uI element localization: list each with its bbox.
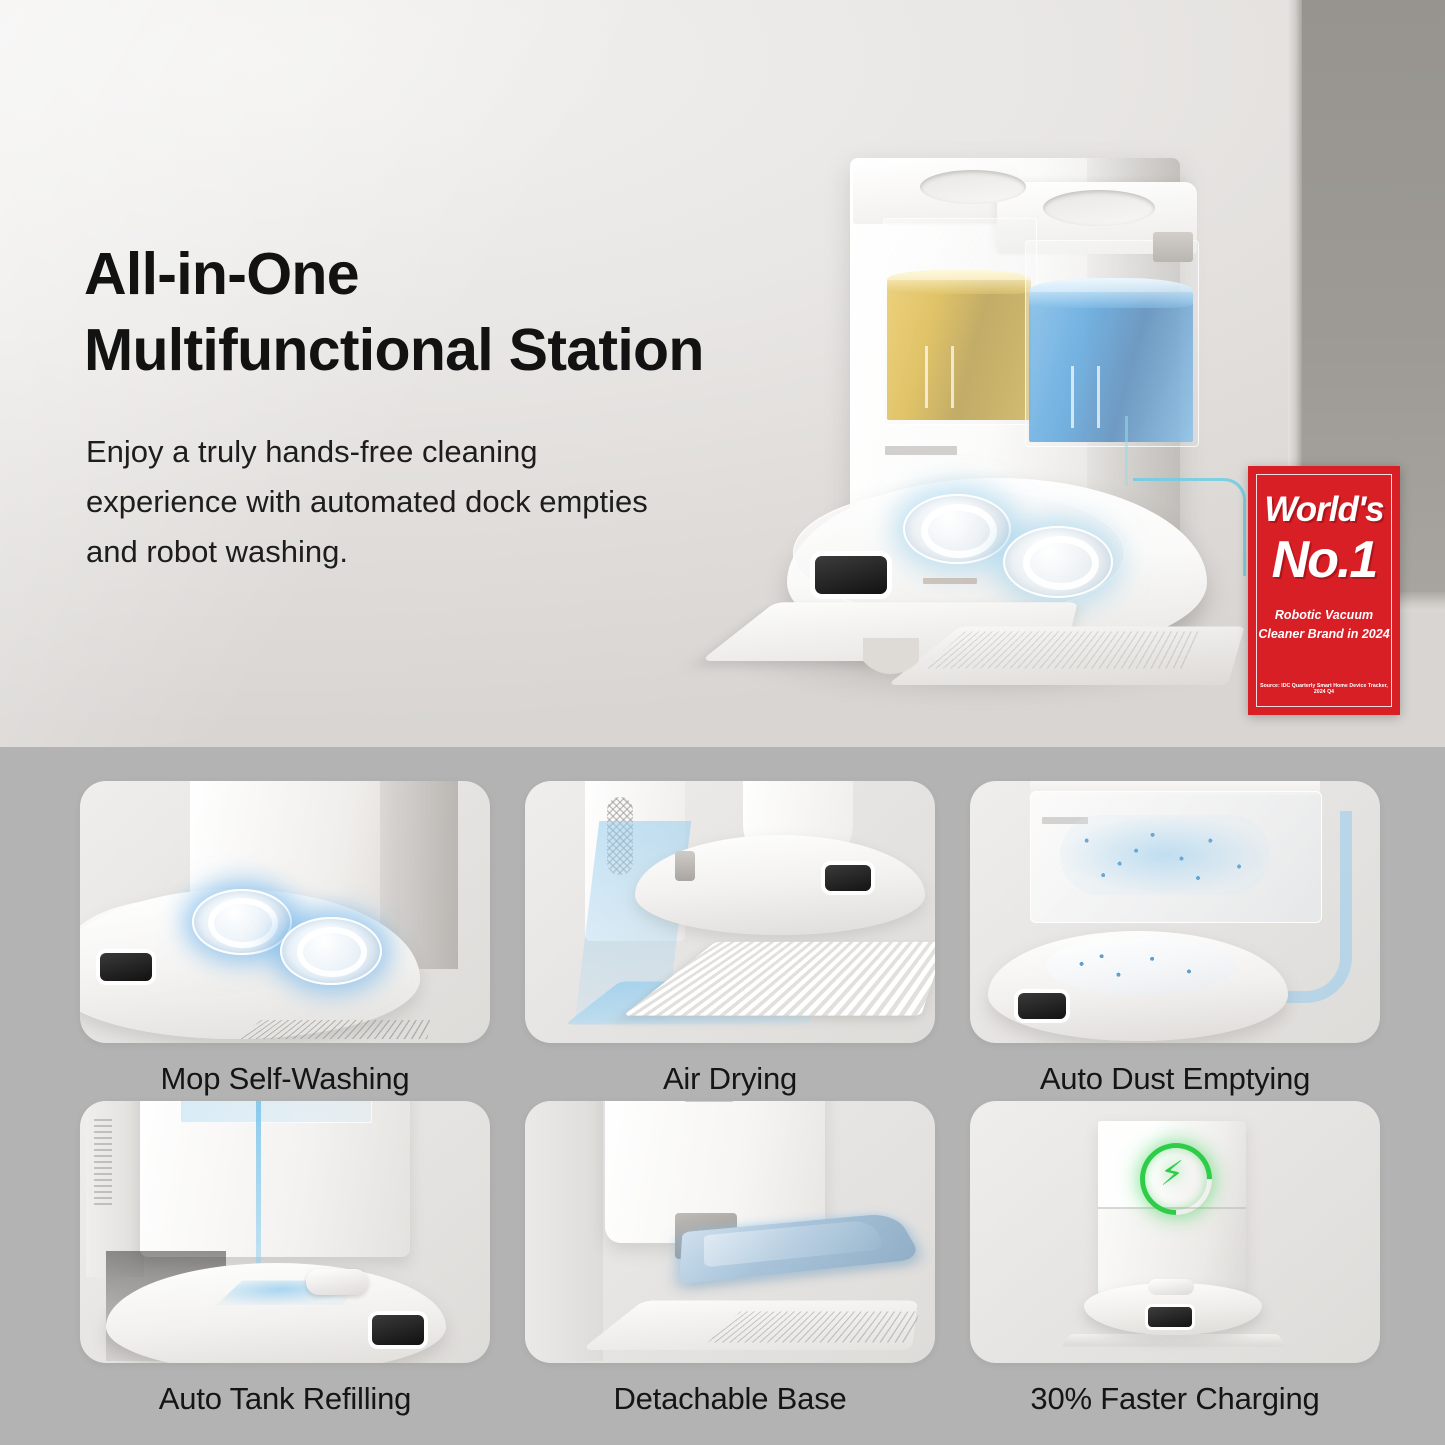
feature-image-faster-charging: ⚡ [970,1101,1380,1363]
mop-pad-spokes [208,898,278,948]
robot-sensor-window [100,953,152,981]
hero-section: All-in-One Multifunctional Station Enjoy… [0,0,1445,747]
feature-label-auto-tank-refilling: Auto Tank Refilling [80,1381,490,1417]
hero-subcopy: Enjoy a truly hands-free cleaning experi… [86,427,656,578]
dust-particles [1062,819,1268,891]
dock-base-mat [1062,1334,1287,1346]
robot-sensor-window [815,556,887,594]
robot-sensor-window [825,865,871,891]
tank-handle [1071,366,1074,428]
mop-pad-spokes [1023,536,1099,590]
award-badge: World's No.1 Robotic Vacuum Cleaner Bran… [1248,466,1400,715]
mop-pad-spokes [921,504,997,558]
robot-sensor-window [1148,1307,1192,1327]
award-badge-source: Source: IDC Quarterly Smart Home Device … [1256,683,1392,696]
feature-label-air-drying: Air Drying [525,1061,935,1097]
headline-line-1: All-in-One [84,241,359,307]
brand-logo-mark [885,446,957,455]
robot-slot [675,851,695,881]
dock-lid-dimple-right [1043,190,1155,226]
tank-handle [951,346,954,408]
dock-vent [1153,232,1193,262]
feature-card-detachable-base[interactable]: Detachable Base [525,1101,935,1417]
robot-lidar-turret [306,1269,368,1295]
tank-handle [1097,366,1100,428]
feature-card-auto-tank-refilling[interactable]: Auto Tank Refilling [80,1101,490,1417]
robot-sensor-window [372,1315,424,1345]
dock-base-notch [863,638,919,690]
dock-side-panel [525,1101,603,1361]
dock-station-illustration [735,78,1295,698]
feature-image-detachable-base [525,1101,935,1363]
dirty-water-surface [887,270,1031,294]
tank-handle [925,346,928,408]
award-badge-line-1: World's [1248,490,1400,530]
feature-card-auto-dust-emptying[interactable]: Auto Dust Emptying [970,781,1380,1097]
water-flow-path-icon [1125,416,1190,486]
feature-label-auto-dust-emptying: Auto Dust Emptying [970,1061,1380,1097]
dock-base-ribs [922,631,1201,668]
feature-label-detachable-base: Detachable Base [525,1381,935,1417]
robot-sensor-window [1018,993,1066,1019]
air-vent-grille-icon [94,1115,112,1205]
dock-body [140,1101,410,1257]
clean-water-surface [1029,278,1193,308]
feature-grid: Mop Self-Washing Air Drying [0,747,1445,1445]
robot-lidar-turret [1148,1279,1194,1295]
dust-particles [1058,947,1226,989]
award-badge-subtitle: Robotic Vacuum Cleaner Brand in 2024 [1256,606,1392,645]
lightning-bolt-icon: ⚡ [1160,1155,1184,1195]
mop-pad-spokes [297,927,367,977]
dock-base-ribs [708,1311,920,1342]
headline-line-2: Multifunctional Station [84,317,704,383]
feature-card-mop-self-washing[interactable]: Mop Self-Washing [80,781,490,1097]
robot-model-label [923,578,977,584]
feature-image-auto-dust-emptying [970,781,1380,1043]
feature-card-air-drying[interactable]: Air Drying [525,781,935,1097]
brand-logo-mark [685,1101,733,1102]
dock-base-ribs [238,1020,433,1039]
award-badge-line-2: No.1 [1248,530,1400,590]
feature-card-faster-charging[interactable]: ⚡ 30% Faster Charging [970,1101,1380,1417]
product-feature-page: All-in-One Multifunctional Station Enjoy… [0,0,1445,1445]
dirty-water-liquid [887,280,1031,420]
feature-image-mop-self-washing [80,781,490,1043]
feature-label-mop-self-washing: Mop Self-Washing [80,1061,490,1097]
dock-lid-dimple-left [920,170,1026,204]
feature-label-faster-charging: 30% Faster Charging [970,1381,1380,1417]
feature-image-air-drying [525,781,935,1043]
clean-water-tank-shell [180,1101,372,1123]
feature-image-auto-tank-refilling [80,1101,490,1363]
